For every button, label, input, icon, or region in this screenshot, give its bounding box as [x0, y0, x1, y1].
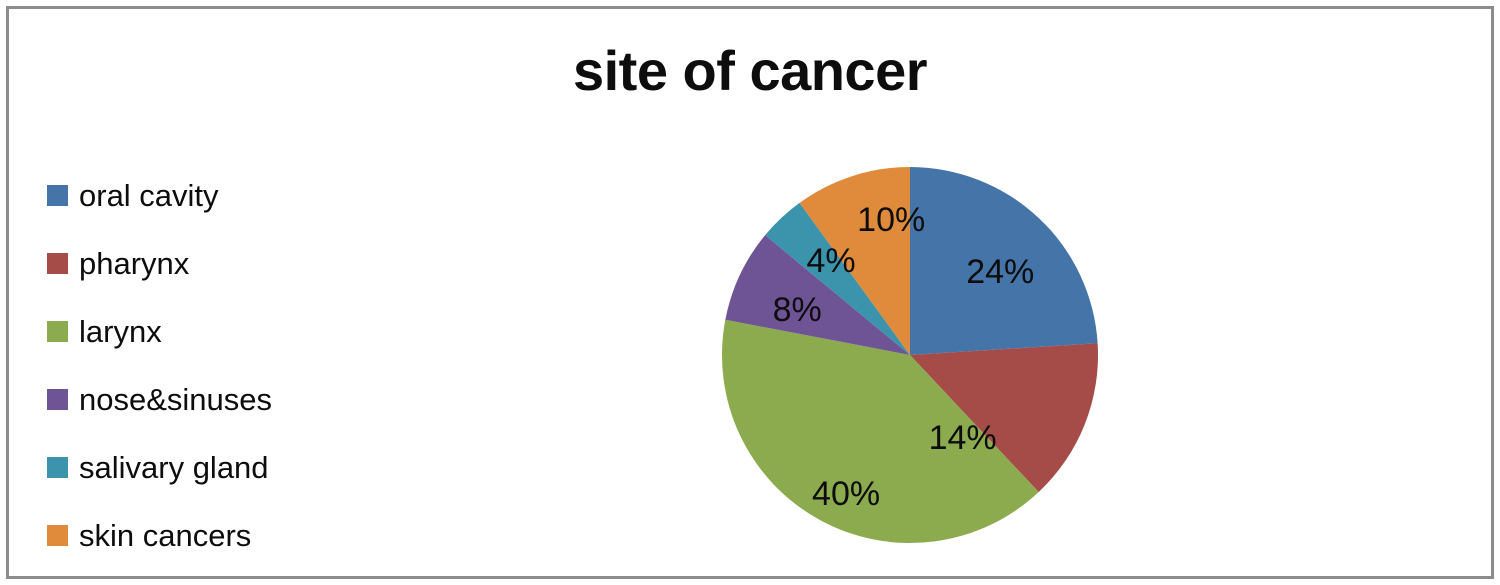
legend-color-swatch — [47, 185, 68, 206]
legend-color-swatch — [47, 253, 68, 274]
legend-item[interactable]: pharynx — [47, 229, 377, 297]
legend-color-swatch — [47, 389, 68, 410]
legend-item[interactable]: larynx — [47, 297, 377, 365]
chart-figure-frame: site of cancer oral cavitypharynxlarynxn… — [6, 6, 1494, 579]
pie-slice-label: 40% — [812, 477, 880, 511]
legend-item-label: salivary gland — [79, 452, 269, 483]
legend-item-label: larynx — [79, 316, 162, 347]
legend-item-label: nose&sinuses — [79, 384, 272, 415]
legend-item[interactable]: oral cavity — [47, 161, 377, 229]
legend-item[interactable]: salivary gland — [47, 433, 377, 501]
pie-chart: 24%14%40%8%4%10% — [722, 167, 1098, 543]
pie-slice-label: 8% — [773, 293, 822, 327]
chart-legend: oral cavitypharynxlarynxnose&sinusessali… — [47, 161, 377, 569]
pie-slice-label: 14% — [929, 421, 997, 455]
chart-title: site of cancer — [9, 43, 1491, 99]
legend-item-label: skin cancers — [79, 520, 251, 551]
legend-color-swatch — [47, 525, 68, 546]
legend-color-swatch — [47, 457, 68, 478]
chart-area: site of cancer oral cavitypharynxlarynxn… — [9, 9, 1491, 576]
pie-slice-label: 4% — [806, 244, 855, 278]
legend-item[interactable]: nose&sinuses — [47, 365, 377, 433]
pie-slice-label: 10% — [857, 203, 925, 237]
legend-item-label: oral cavity — [79, 180, 219, 211]
legend-item-label: pharynx — [79, 248, 189, 279]
legend-item[interactable]: skin cancers — [47, 501, 377, 569]
legend-color-swatch — [47, 321, 68, 342]
pie-slice-label: 24% — [966, 255, 1034, 289]
